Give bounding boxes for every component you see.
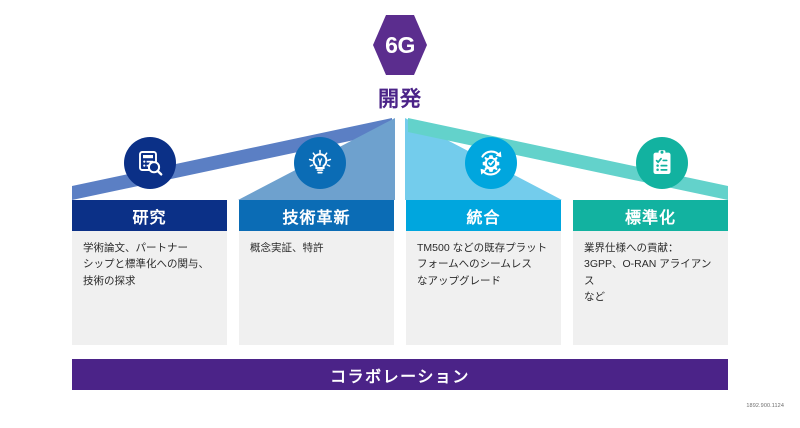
pillar-text-innovation: 概念実証、特許 xyxy=(250,240,383,256)
pillar-innovation[interactable]: 技術革新 概念実証、特許 xyxy=(239,200,394,345)
pillar-body-integration: TM500 などの既存プラット フォームへのシームレス なアップグレード xyxy=(406,231,561,345)
pillar-title-integration: 統合 xyxy=(406,200,561,231)
pillar-title-standardization: 標準化 xyxy=(573,200,728,231)
pillar-body-standardization: 業界仕様への貢献： 3GPP、O-RAN アライアンス など xyxy=(573,231,728,345)
hexagon-badge-icon: 6G xyxy=(372,14,428,76)
pillar-title-innovation: 技術革新 xyxy=(239,200,394,231)
pillar-standardization[interactable]: 標準化 業界仕様への貢献： 3GPP、O-RAN アライアンス など xyxy=(573,200,728,345)
pillar-body-innovation: 概念実証、特許 xyxy=(239,231,394,345)
collaboration-bar: コラボレーション xyxy=(72,359,728,390)
gear-sync-icon xyxy=(465,137,517,189)
document-search-icon xyxy=(124,137,176,189)
pillar-research[interactable]: 研究 学術論文、パートナー シップと標準化への関与、 技術の探求 xyxy=(72,200,227,345)
footer-document-code: 1892.900.1124 xyxy=(746,403,784,409)
apex-logo-block: 6G 開発 xyxy=(347,14,453,113)
pillar-title-research: 研究 xyxy=(72,200,227,231)
apex-title: 開発 xyxy=(347,83,453,113)
collaboration-label: コラボレーション xyxy=(330,363,470,387)
pillar-body-research: 学術論文、パートナー シップと標準化への関与、 技術の探求 xyxy=(72,231,227,345)
clipboard-check-icon xyxy=(636,137,688,189)
pillar-text-standardization: 業界仕様への貢献： 3GPP、O-RAN アライアンス など xyxy=(584,240,717,305)
pillar-text-research: 学術論文、パートナー シップと標準化への関与、 技術の探求 xyxy=(83,240,216,289)
pillar-text-integration: TM500 などの既存プラット フォームへのシームレス なアップグレード xyxy=(417,240,550,289)
lightbulb-icon xyxy=(294,137,346,189)
pillar-integration[interactable]: 統合 TM500 などの既存プラット フォームへのシームレス なアップグレード xyxy=(406,200,561,345)
infographic-canvas: 6G 開発 xyxy=(0,0,800,428)
hexagon-label: 6G xyxy=(372,14,428,76)
